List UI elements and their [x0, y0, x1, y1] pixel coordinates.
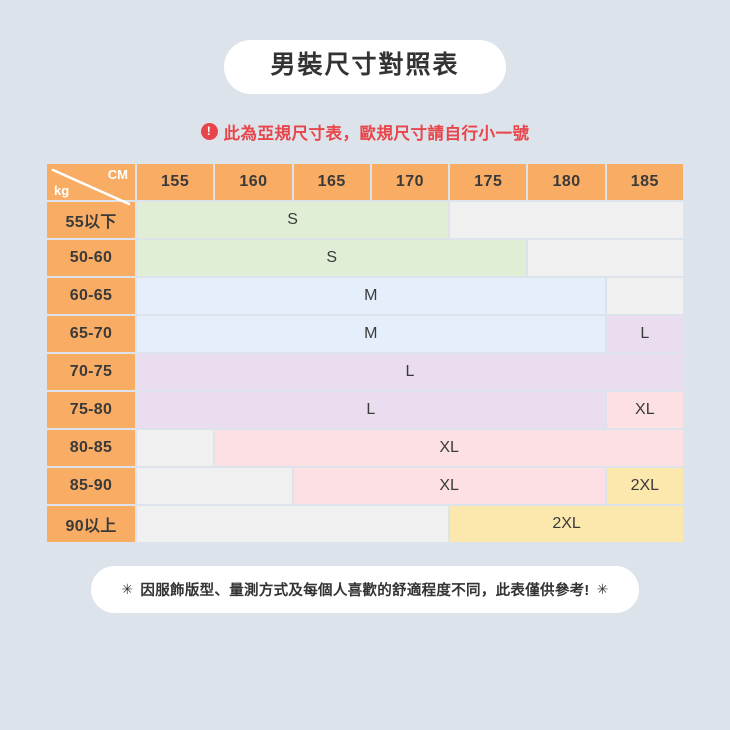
size-cell-2XL: 2XL — [607, 468, 683, 504]
size-chart-page: 男裝尺寸對照表 ! 此為亞規尺寸表，歐規尺寸請自行小一號 CMkg1551601… — [0, 0, 730, 730]
size-cell-M: M — [137, 316, 605, 352]
column-header-185: 185 — [607, 164, 683, 200]
table-row: 85-90XL2XL — [47, 468, 683, 504]
row-header-65-70: 65-70 — [47, 316, 135, 352]
size-cell-L: L — [137, 392, 605, 428]
table-header-row: CMkg155160165170175180185 — [47, 164, 683, 200]
table-row: 65-70ML — [47, 316, 683, 352]
footer-container: ✳ 因服飾版型、量測方式及每個人喜歡的舒適程度不同，此表僅供參考! ✳ — [0, 566, 730, 613]
column-header-160: 160 — [215, 164, 291, 200]
size-cell-empty — [137, 468, 292, 504]
star-right-icon: ✳ — [597, 581, 609, 598]
table-row: 80-85XL — [47, 430, 683, 466]
table-row: 75-80LXL — [47, 392, 683, 428]
size-cell-empty — [528, 240, 683, 276]
column-header-165: 165 — [294, 164, 370, 200]
table-row: 70-75L — [47, 354, 683, 390]
row-header-85-90: 85-90 — [47, 468, 135, 504]
column-header-170: 170 — [372, 164, 448, 200]
size-cell-XL: XL — [607, 392, 683, 428]
row-header-50-60: 50-60 — [47, 240, 135, 276]
warning-notice: ! 此為亞規尺寸表，歐規尺寸請自行小一號 — [0, 120, 730, 144]
axis-label-cm: CM — [108, 167, 128, 182]
size-cell-XL: XL — [294, 468, 605, 504]
row-header-90以上: 90以上 — [47, 506, 135, 542]
axis-label-kg: kg — [54, 183, 69, 198]
column-header-180: 180 — [528, 164, 604, 200]
row-header-60-65: 60-65 — [47, 278, 135, 314]
footer-text: 因服飾版型、量測方式及每個人喜歡的舒適程度不同，此表僅供參考! — [140, 579, 589, 600]
table-row: 55以下S — [47, 202, 683, 238]
size-table-container: CMkg15516016517017518018555以下S50-60S60-6… — [45, 162, 685, 544]
table-row: 90以上2XL — [47, 506, 683, 542]
row-header-80-85: 80-85 — [47, 430, 135, 466]
size-cell-empty — [137, 430, 213, 466]
column-header-155: 155 — [137, 164, 213, 200]
warning-text: 此為亞規尺寸表，歐規尺寸請自行小一號 — [224, 120, 530, 144]
size-cell-S: S — [137, 202, 448, 238]
size-cell-empty — [607, 278, 683, 314]
size-cell-L: L — [137, 354, 683, 390]
column-header-175: 175 — [450, 164, 526, 200]
size-table: CMkg15516016517017518018555以下S50-60S60-6… — [45, 162, 685, 544]
axis-corner-cell: CMkg — [47, 164, 135, 200]
table-row: 50-60S — [47, 240, 683, 276]
size-cell-empty — [137, 506, 448, 542]
footer-note: ✳ 因服飾版型、量測方式及每個人喜歡的舒適程度不同，此表僅供參考! ✳ — [91, 566, 638, 613]
size-cell-empty — [450, 202, 683, 238]
size-cell-XL: XL — [215, 430, 683, 466]
page-title: 男裝尺寸對照表 — [224, 40, 505, 94]
title-container: 男裝尺寸對照表 — [0, 0, 730, 94]
star-left-icon: ✳ — [121, 581, 133, 598]
size-cell-2XL: 2XL — [450, 506, 683, 542]
table-row: 60-65M — [47, 278, 683, 314]
row-header-70-75: 70-75 — [47, 354, 135, 390]
size-cell-L: L — [607, 316, 683, 352]
size-cell-S: S — [137, 240, 526, 276]
size-cell-M: M — [137, 278, 605, 314]
exclamation-circle-icon: ! — [201, 123, 218, 140]
row-header-75-80: 75-80 — [47, 392, 135, 428]
